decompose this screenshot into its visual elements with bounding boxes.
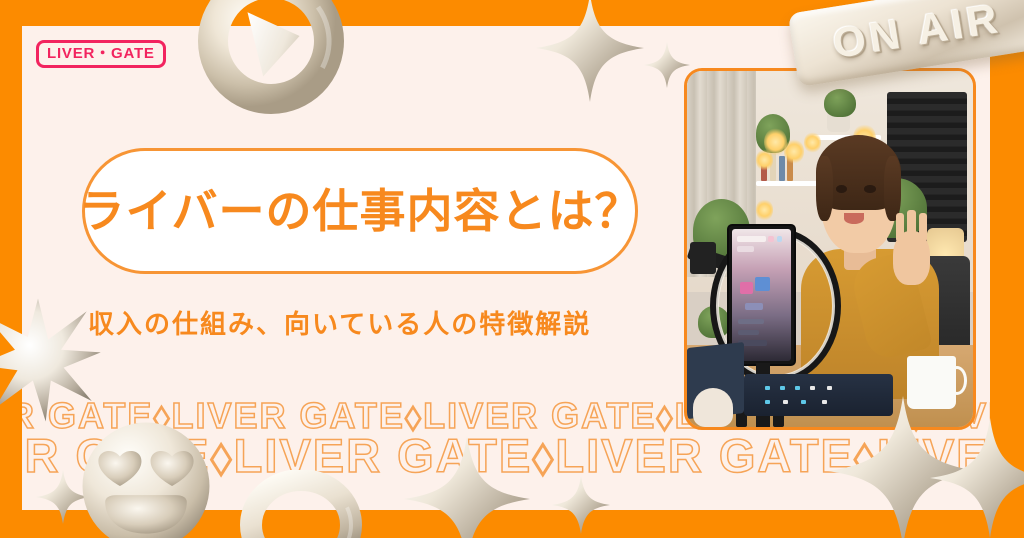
photo-fairy-light [756,149,773,170]
photo-plush-toy [693,388,733,427]
photo-microphone [690,242,716,274]
photo-person-eye [864,185,875,193]
photo-fairy-light [756,199,773,220]
frame-left-bar [0,0,22,538]
photo-person-finger [907,210,916,238]
photo-person-eye [836,185,847,193]
streamer-photo-card [684,68,976,430]
marquee-row-2: LIVER GATE⬧LIVER GATE⬧LIVER GATE⬧LIVER G… [22,432,990,479]
frame-bottom-bar [0,510,1024,538]
photo-book [779,156,785,181]
photo-fairy-light [784,139,804,164]
brand-logo-text: LIVER・GATE [47,46,155,61]
page-title: ライバーの仕事内容とは？ [78,188,641,234]
photo-person-finger [896,213,905,241]
photo-person-hair [884,156,901,220]
photo-person-hair [816,156,833,220]
streamer-photo [687,71,973,427]
frame-right-bar [990,0,1024,538]
title-pill: ライバーの仕事内容とは？ [82,148,638,274]
photo-plant [824,89,855,117]
photo-stream-deck [744,374,893,417]
banner-root: ER GATE⬧LIVER GATE⬧LIVER GATE⬧LIVER GATE… [0,0,1024,538]
on-air-label: ON AIR [830,0,1004,65]
photo-person-finger [919,213,928,241]
brand-logo[interactable]: LIVER・GATE [36,40,166,68]
page-subtitle: 収入の仕組み、向いている人の特徴解説 [88,310,591,341]
